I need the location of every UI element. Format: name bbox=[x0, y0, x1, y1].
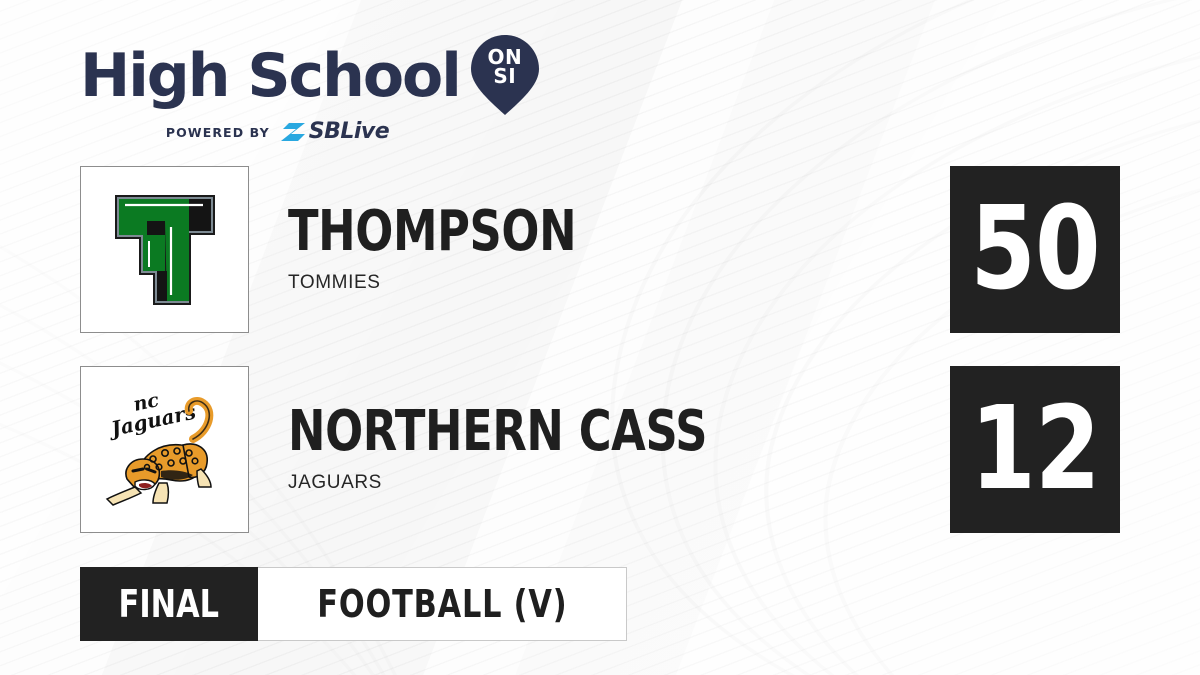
powered-by-label: POWERED BY bbox=[166, 125, 270, 140]
sport-label-box: FOOTBALL (V) bbox=[258, 567, 628, 641]
on-si-pin-icon: ON SI bbox=[470, 34, 540, 116]
team-logo-card-thompson[interactable] bbox=[80, 166, 249, 333]
sport-label: FOOTBALL (V) bbox=[317, 585, 567, 623]
team-row: THOMPSON TOMMIES bbox=[80, 166, 648, 333]
powered-by-row: POWERED BY SBLive bbox=[80, 120, 475, 144]
sblive-logo: SBLive bbox=[278, 120, 389, 144]
team-score: 50 bbox=[970, 192, 1100, 307]
brand-wordmark-row: High School ON SI bbox=[80, 36, 540, 116]
sblive-mark-icon bbox=[278, 120, 308, 144]
team-name: NORTHERN CASS bbox=[288, 405, 707, 460]
team-score: 12 bbox=[970, 392, 1100, 507]
team-name: THOMPSON bbox=[288, 205, 576, 260]
pin-line-si: SI bbox=[470, 67, 540, 86]
status-badge: FINAL bbox=[80, 567, 258, 641]
team-row: nc Jaguars bbox=[80, 366, 812, 533]
team-mascot: JAGUARS bbox=[288, 472, 812, 494]
on-si-pin-label: ON SI bbox=[470, 48, 540, 86]
brand-header: High School ON SI POWERED BY SBLive bbox=[80, 36, 540, 144]
game-status-bar: FINAL FOOTBALL (V) bbox=[80, 567, 627, 641]
team-mascot: TOMMIES bbox=[288, 272, 648, 294]
brand-wordmark: High School bbox=[80, 46, 460, 106]
team-logo-card-northern-cass[interactable]: nc Jaguars bbox=[80, 366, 249, 533]
team-score-box: 50 bbox=[950, 166, 1120, 333]
thompson-tt-monogram-logo-icon bbox=[105, 187, 225, 313]
sblive-wordmark-light: ive bbox=[354, 119, 389, 144]
sblive-wordmark: SBLive bbox=[309, 121, 389, 143]
sblive-wordmark-dark: SBL bbox=[309, 119, 354, 144]
team-info: NORTHERN CASS JAGUARS bbox=[288, 405, 812, 495]
northern-cass-jaguar-logo-icon: nc Jaguars bbox=[97, 387, 232, 512]
status-badge-label: FINAL bbox=[119, 585, 219, 623]
team-info: THOMPSON TOMMIES bbox=[288, 205, 648, 295]
team-score-box: 12 bbox=[950, 366, 1120, 533]
